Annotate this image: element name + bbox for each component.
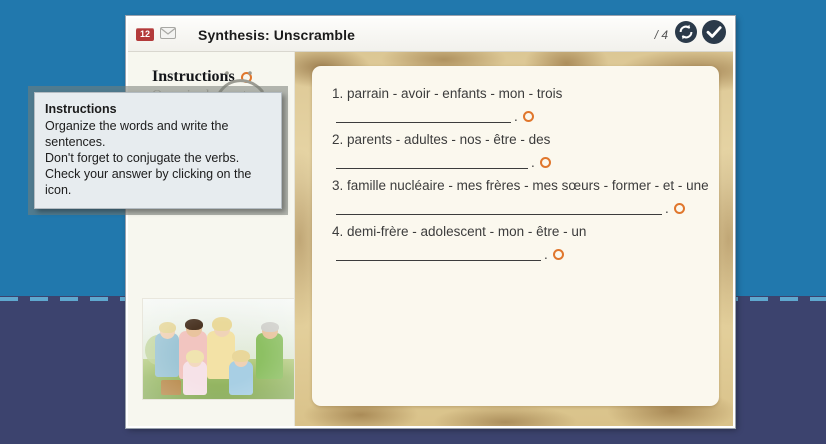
check-answer-icon[interactable] bbox=[523, 111, 534, 122]
envelope-icon[interactable] bbox=[160, 26, 176, 44]
answer-row: . bbox=[332, 247, 699, 261]
item-number: 2. bbox=[332, 132, 343, 147]
refresh-circle-icon[interactable] bbox=[674, 20, 698, 49]
item-scrambled-words: parrain - avoir - enfants - mon - trois bbox=[347, 86, 562, 101]
application-window: 12 Synthesis: Unscramble / 4 bbox=[126, 16, 735, 428]
answer-input-2[interactable] bbox=[336, 155, 528, 169]
tooltip-line-3: Don't forget to conjugate the verbs. bbox=[45, 150, 271, 166]
check-answer-icon[interactable] bbox=[553, 249, 564, 260]
exercise-area: 1. parrain - avoir - enfants - mon - tro… bbox=[295, 52, 733, 426]
tooltip-line-2: sentences. bbox=[45, 134, 271, 150]
item-words: 2. parents - adultes - nos - être - des bbox=[332, 130, 699, 149]
score-counter: / 4 bbox=[655, 28, 668, 42]
tooltip-line-5: icon. bbox=[45, 182, 271, 198]
item-number: 1. bbox=[332, 86, 343, 101]
exercise-item-4: 4. demi-frère - adolescent - mon - être … bbox=[332, 222, 699, 261]
answer-row: . bbox=[332, 155, 699, 169]
answer-input-1[interactable] bbox=[336, 109, 511, 123]
period: . bbox=[665, 202, 669, 215]
exercise-card: 1. parrain - avoir - enfants - mon - tro… bbox=[312, 66, 719, 406]
page-title: Synthesis: Unscramble bbox=[198, 27, 355, 43]
exercise-item-2: 2. parents - adultes - nos - être - des … bbox=[332, 130, 699, 169]
item-words: 4. demi-frère - adolescent - mon - être … bbox=[332, 222, 699, 241]
titlebar-controls: / 4 bbox=[655, 19, 733, 50]
tooltip-line-1: Organize the words and write the bbox=[45, 118, 271, 134]
tooltip-line-4: Check your answer by clicking on the bbox=[45, 166, 271, 182]
period: . bbox=[514, 110, 518, 123]
answer-input-4[interactable] bbox=[336, 247, 541, 261]
exercise-item-1: 1. parrain - avoir - enfants - mon - tro… bbox=[332, 84, 699, 123]
answer-row: . bbox=[332, 109, 699, 123]
check-answer-icon[interactable] bbox=[540, 157, 551, 168]
item-scrambled-words: parents - adultes - nos - être - des bbox=[347, 132, 550, 147]
answer-row: . bbox=[332, 201, 699, 215]
message-count-badge[interactable]: 12 bbox=[136, 28, 154, 41]
family-photo bbox=[142, 298, 295, 400]
check-circle-icon[interactable] bbox=[701, 19, 727, 50]
answer-input-3[interactable] bbox=[336, 201, 662, 215]
exercise-item-3: 3. famille nucléaire - mes frères - mes … bbox=[332, 176, 699, 215]
item-number: 4. bbox=[332, 224, 343, 239]
period: . bbox=[531, 156, 535, 169]
item-words: 3. famille nucléaire - mes frères - mes … bbox=[332, 176, 699, 195]
tooltip-title: Instructions bbox=[45, 101, 271, 117]
instructions-tooltip: Instructions Organize the words and writ… bbox=[34, 92, 282, 209]
item-scrambled-words: demi-frère - adolescent - mon - être - u… bbox=[347, 224, 586, 239]
check-answer-icon[interactable] bbox=[674, 203, 685, 214]
period: . bbox=[544, 248, 548, 261]
item-number: 3. bbox=[332, 178, 343, 193]
item-scrambled-words: famille nucléaire - mes frères - mes sœu… bbox=[347, 178, 709, 193]
window-titlebar: 12 Synthesis: Unscramble / 4 bbox=[128, 18, 733, 52]
item-words: 1. parrain - avoir - enfants - mon - tro… bbox=[332, 84, 699, 103]
